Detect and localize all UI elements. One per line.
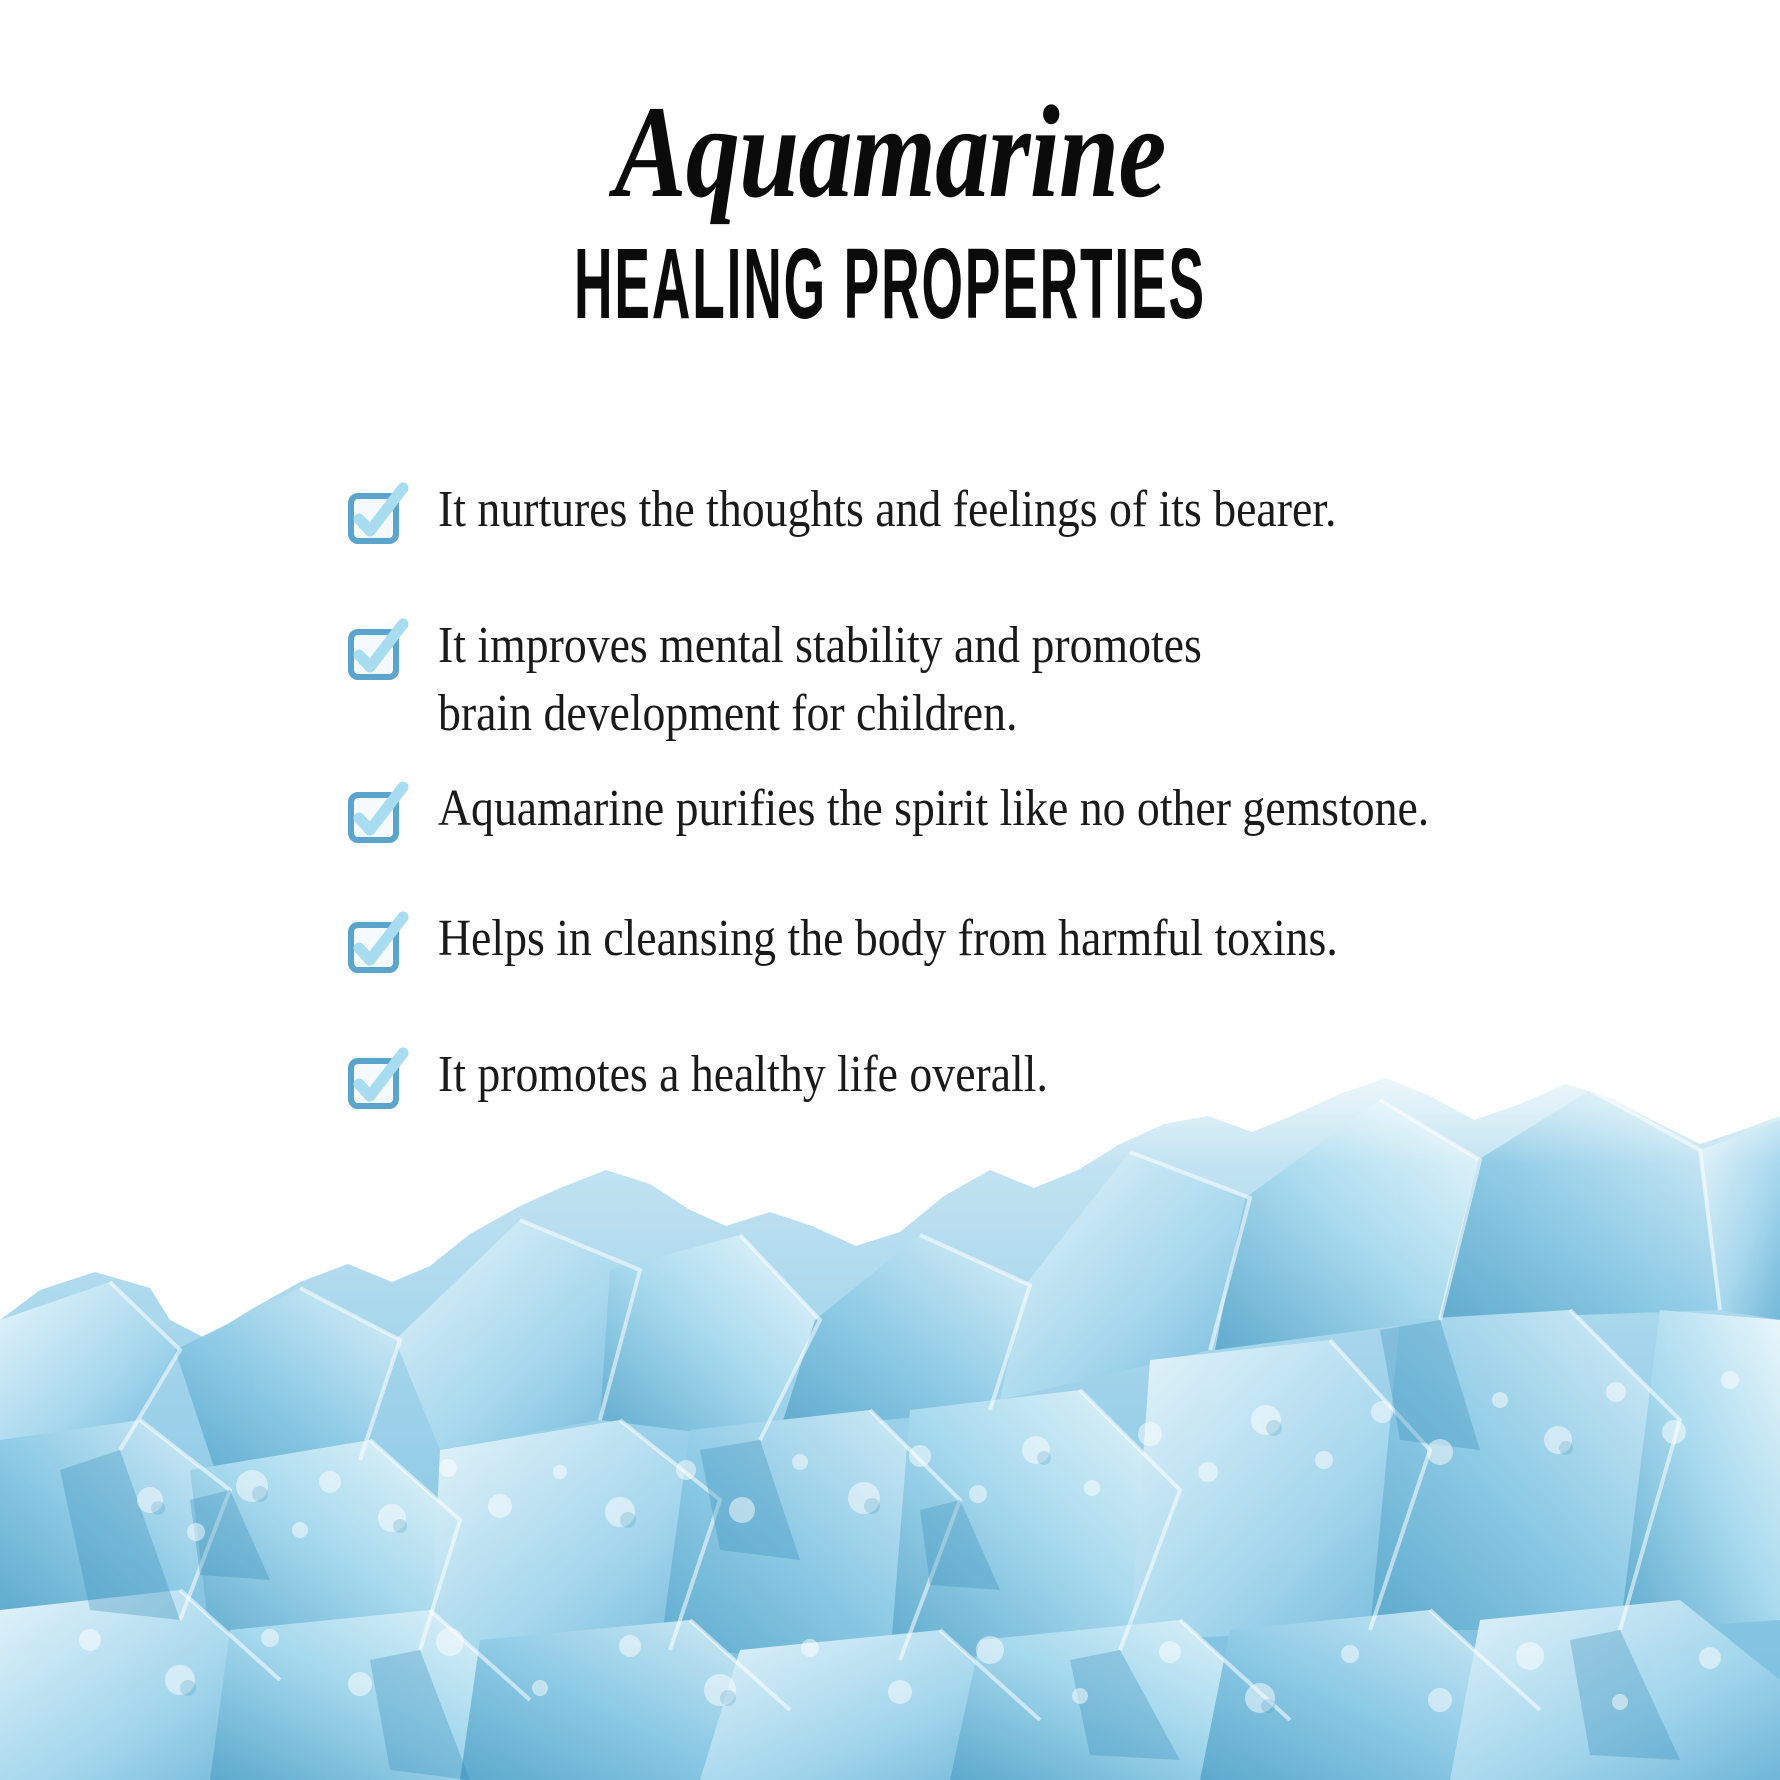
list-item-label: It nurtures the thoughts and feelings of… bbox=[438, 470, 1336, 544]
ice-cubes-photo bbox=[0, 1020, 1780, 1780]
checked-checkbox-icon bbox=[348, 626, 402, 680]
checked-checkbox-icon bbox=[348, 919, 402, 973]
checked-checkbox-icon bbox=[348, 490, 402, 544]
list-item-label: Aquamarine purifies the spirit like no o… bbox=[438, 769, 1429, 843]
infographic-page: Aquamarine HEALING PROPERTIES It nurture… bbox=[0, 0, 1780, 1780]
list-item-label: Helps in cleansing the body from harmful… bbox=[438, 899, 1338, 973]
list-item: Aquamarine purifies the spirit like no o… bbox=[348, 769, 1728, 843]
checked-checkbox-icon bbox=[348, 789, 402, 843]
list-item-label: It improves mental stability and promote… bbox=[438, 606, 1202, 747]
page-title-script: Aquamarine bbox=[160, 0, 1620, 218]
healing-properties-list: It nurtures the thoughts and feelings of… bbox=[348, 470, 1728, 1109]
page-header: Aquamarine HEALING PROPERTIES bbox=[0, 0, 1780, 318]
list-item: It improves mental stability and promote… bbox=[348, 606, 1728, 747]
list-item-label: It promotes a healthy life overall. bbox=[438, 1035, 1048, 1109]
list-item: Helps in cleansing the body from harmful… bbox=[348, 899, 1728, 973]
page-title-subheading: HEALING PROPERTIES bbox=[338, 218, 1442, 334]
list-item: It nurtures the thoughts and feelings of… bbox=[348, 470, 1728, 544]
list-item: It promotes a healthy life overall. bbox=[348, 1035, 1728, 1109]
checked-checkbox-icon bbox=[348, 1055, 402, 1109]
